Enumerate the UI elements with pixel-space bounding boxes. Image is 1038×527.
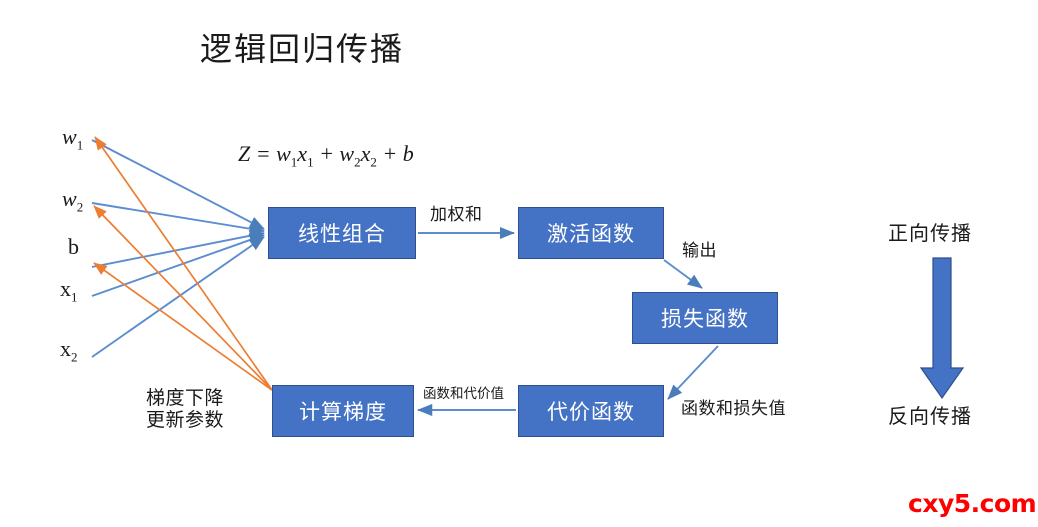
var-x1-sub: 1	[71, 289, 78, 304]
edge-label-weighted-sum: 加权和	[430, 200, 483, 225]
formula-equals: =	[256, 141, 271, 166]
var-label-b: b	[68, 234, 79, 260]
var-w1-base: w	[62, 124, 77, 149]
node-cost-function-label: 代价函数	[547, 396, 635, 426]
edges-gradient-to-params	[94, 137, 272, 390]
edge-x2-to-linear	[92, 237, 264, 357]
var-w2-base: w	[62, 186, 77, 211]
edge-layer	[0, 0, 1038, 527]
var-x2-sub: 2	[71, 349, 78, 364]
var-w2-sub: 2	[77, 199, 84, 214]
legend-backward-propagation: 反向传播	[888, 400, 972, 429]
node-cost-function[interactable]: 代价函数	[518, 385, 664, 437]
formula-term2-x-sub: 2	[370, 154, 377, 169]
gradient-descent-note: 梯度下降 更新参数	[146, 388, 224, 433]
node-loss-function[interactable]: 损失函数	[632, 292, 778, 344]
edge-b-to-linear	[92, 233, 264, 267]
edge-label-loss-value: 函数和损失值	[681, 394, 786, 419]
gradient-descent-note-line2: 更新参数	[146, 410, 224, 432]
var-x2-base: x	[60, 336, 71, 361]
formula-term2-x: x	[361, 141, 371, 166]
diagram-canvas: 逻辑回归传播 Z = w1x1 + w2x2 + b	[0, 0, 1038, 527]
formula-linear-combination: Z = w1x1 + w2x2 + b	[238, 141, 414, 170]
edge-gradient-to-w2	[94, 206, 272, 390]
edge-activation-to-loss	[664, 260, 702, 288]
var-label-w2: w2	[62, 186, 83, 215]
legend-forward-propagation: 正向传播	[888, 217, 972, 246]
node-linear-combination[interactable]: 线性组合	[268, 207, 416, 259]
page-title: 逻辑回归传播	[200, 24, 404, 70]
formula-plus-1: +	[319, 141, 334, 166]
formula-term1-w: w	[276, 141, 291, 166]
watermark: cxy5.com	[908, 489, 1036, 518]
var-label-x1: x1	[60, 276, 78, 305]
edge-x1-to-linear	[92, 235, 264, 296]
node-activation-function[interactable]: 激活函数	[518, 207, 664, 259]
var-label-x2: x2	[60, 336, 78, 365]
edge-label-output: 输出	[682, 236, 717, 261]
var-x1-base: x	[60, 276, 71, 301]
var-w1-sub: 1	[77, 137, 84, 152]
node-loss-function-label: 损失函数	[661, 303, 749, 333]
formula-lhs: Z	[238, 141, 250, 166]
formula-term1-x-sub: 1	[307, 154, 314, 169]
formula-plus-2: +	[382, 141, 397, 166]
formula-term1-x: x	[297, 141, 307, 166]
edge-gradient-to-b	[94, 263, 272, 390]
var-b-base: b	[68, 234, 79, 259]
node-activation-function-label: 激活函数	[547, 218, 635, 248]
edge-label-cost-value: 函数和代价值	[423, 382, 504, 402]
var-label-w1: w1	[62, 124, 83, 153]
formula-term2-w: w	[339, 141, 354, 166]
edge-gradient-to-w1	[95, 137, 272, 390]
edge-w2-to-linear	[92, 203, 264, 231]
node-linear-combination-label: 线性组合	[298, 218, 386, 248]
node-compute-gradient-label: 计算梯度	[299, 396, 387, 426]
legend-down-arrow	[921, 258, 963, 398]
edges-inputs-to-linear-combination	[92, 140, 264, 357]
edge-loss-to-cost	[668, 346, 718, 399]
formula-bias: b	[403, 141, 414, 166]
gradient-descent-note-line1: 梯度下降	[146, 388, 224, 410]
node-compute-gradient[interactable]: 计算梯度	[272, 385, 414, 437]
